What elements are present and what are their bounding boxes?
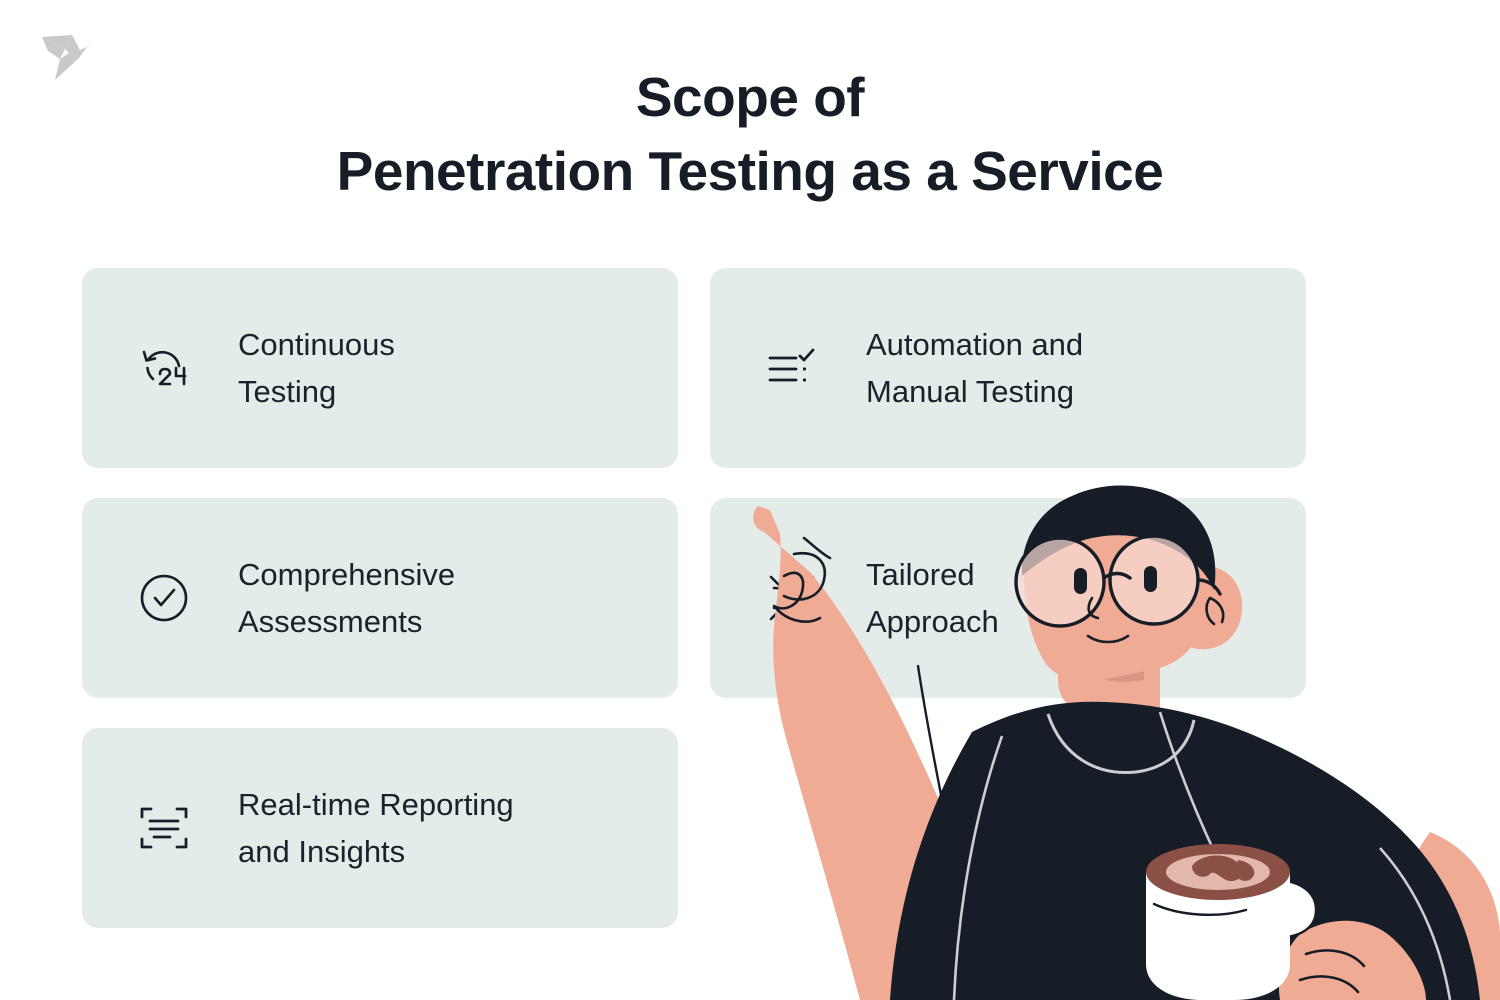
card-comprehensive-assessments[interactable]: Comprehensive Assessments <box>82 498 678 698</box>
infographic-page: Scope of Penetration Testing as a Servic… <box>0 0 1500 1000</box>
card-tailored-approach[interactable]: Tailored Approach <box>710 498 1306 698</box>
card-label: Comprehensive Assessments <box>238 551 455 645</box>
card-label: Automation and Manual Testing <box>866 321 1083 415</box>
card-automation-manual-testing[interactable]: Automation and Manual Testing <box>710 268 1306 468</box>
card-continuous-testing[interactable]: Continuous Testing <box>82 268 678 468</box>
checklist-icon <box>762 338 822 398</box>
page-title-line-1: Scope of <box>0 60 1500 134</box>
card-label: Real-time Reporting and Insights <box>238 781 514 875</box>
check-circle-icon <box>134 568 194 628</box>
page-title: Scope of Penetration Testing as a Servic… <box>0 60 1500 208</box>
card-label: Continuous Testing <box>238 321 395 415</box>
card-real-time-reporting[interactable]: Real-time Reporting and Insights <box>82 728 678 928</box>
feature-cards-grid: Continuous Testing Automation and Manual… <box>82 268 1310 930</box>
page-title-line-2: Penetration Testing as a Service <box>0 134 1500 208</box>
clock-24-rotate-icon <box>134 338 194 398</box>
card-label: Tailored Approach <box>866 551 999 645</box>
scan-document-icon <box>134 798 194 858</box>
focus-arrows-icon <box>762 568 822 628</box>
